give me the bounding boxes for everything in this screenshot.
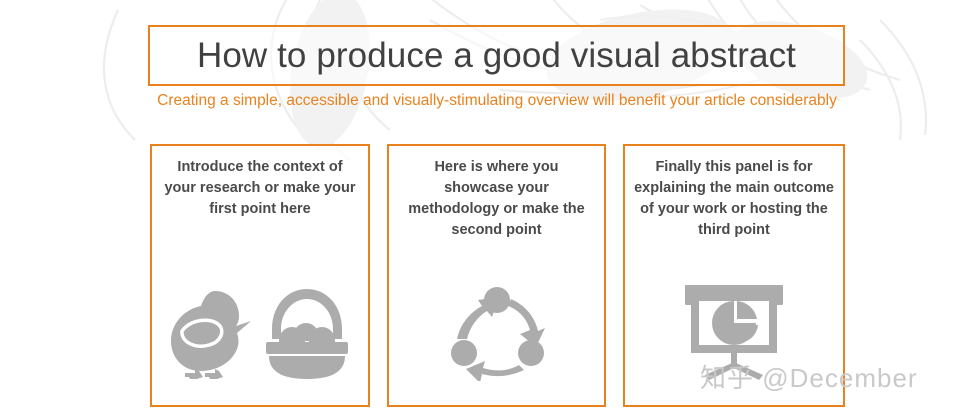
panel-2-icon-group [389, 274, 604, 392]
panel-introduce-context[interactable]: Introduce the context of your research o… [150, 144, 370, 407]
panel-outcome[interactable]: Finally this panel is for explaining the… [623, 144, 845, 407]
chick-icon [169, 287, 253, 379]
panel-3-icon-group [625, 272, 843, 390]
presentation-pie-chart-icon [679, 281, 789, 381]
panel-methodology[interactable]: Here is where you showcase your methodol… [387, 144, 606, 407]
page-subtitle: Creating a simple, accessible and visual… [150, 91, 844, 111]
egg-basket-icon [263, 287, 351, 379]
cycle-arrows-icon [447, 285, 547, 381]
panel-2-text: Here is where you showcase your methodol… [398, 157, 595, 241]
panel-3-text: Finally this panel is for explaining the… [634, 157, 834, 241]
page-title: How to produce a good visual abstract [197, 36, 796, 76]
title-box: How to produce a good visual abstract [148, 25, 845, 86]
panel-1-text: Introduce the context of your research o… [161, 157, 359, 220]
panel-1-icon-group [152, 274, 368, 392]
